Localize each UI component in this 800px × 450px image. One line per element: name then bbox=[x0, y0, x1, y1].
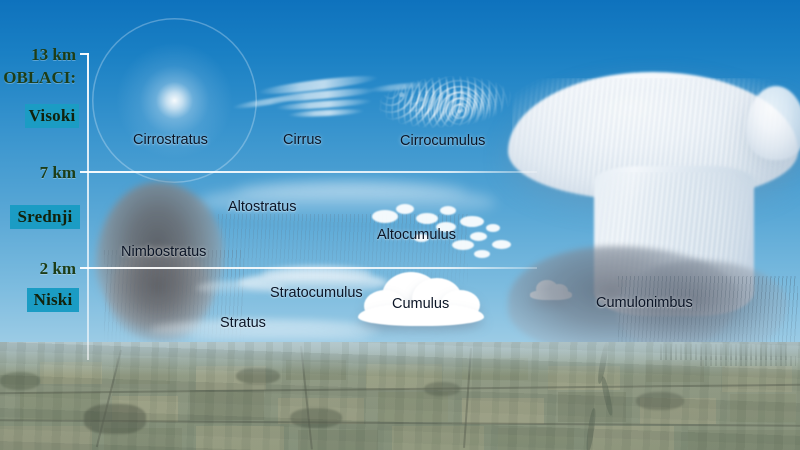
field-parcel bbox=[40, 362, 102, 384]
field-parcel bbox=[20, 392, 100, 420]
field-parcel bbox=[498, 428, 574, 450]
altitude-tick-7km bbox=[80, 171, 89, 173]
cloud-label-altostratus: Altostratus bbox=[228, 199, 297, 215]
ground-aerial-farmland bbox=[0, 342, 800, 450]
field-parcel bbox=[722, 366, 792, 392]
horizon-haze bbox=[0, 342, 800, 376]
cloud-label-cumulus: Cumulus bbox=[392, 296, 449, 312]
altitude-axis-line bbox=[87, 53, 89, 360]
altitude-label-2km: 2 km bbox=[0, 259, 76, 279]
cloud-label-cirrocumulus: Cirrocumulus bbox=[400, 133, 485, 149]
altocumulus-cloud bbox=[470, 232, 487, 241]
field-parcel bbox=[112, 396, 178, 422]
woodland-patch bbox=[0, 372, 40, 390]
cloud-label-cirrus: Cirrus bbox=[283, 132, 322, 148]
category-box-niski: Niski bbox=[27, 288, 79, 312]
field-parcel bbox=[392, 426, 484, 450]
cirrus-cloud bbox=[288, 108, 364, 118]
tree-line bbox=[660, 344, 790, 360]
cloud-label-stratocumulus: Stratocumulus bbox=[270, 285, 363, 301]
altocumulus-cloud bbox=[440, 206, 456, 215]
road-line bbox=[0, 384, 800, 394]
woodland-patch bbox=[290, 408, 342, 428]
field-parcel bbox=[366, 364, 442, 390]
diagram-title: OBLACI: bbox=[0, 68, 76, 88]
field-parcel bbox=[462, 358, 528, 380]
field-parcel bbox=[640, 398, 716, 424]
field-parcel bbox=[298, 430, 378, 450]
altitude-label-13km: 13 km bbox=[0, 45, 76, 65]
cloud-classification-diagram: 13 km 7 km 2 km OBLACI: Visoki Srednji N… bbox=[0, 0, 800, 450]
field-parcel bbox=[104, 428, 182, 450]
field-parcel bbox=[730, 394, 796, 422]
field-parcel bbox=[558, 392, 626, 422]
field-parcel bbox=[286, 360, 346, 380]
cloud-label-stratus: Stratus bbox=[220, 315, 266, 331]
cloud-label-cirrostratus: Cirrostratus bbox=[133, 132, 208, 148]
altocumulus-cloud bbox=[416, 213, 438, 224]
river bbox=[585, 408, 597, 450]
field-parcel bbox=[116, 358, 170, 384]
field-patchwork bbox=[0, 342, 800, 450]
woodland-patch bbox=[636, 392, 684, 410]
altocumulus-cloud bbox=[396, 204, 414, 214]
road-line bbox=[463, 348, 471, 448]
field-parcel bbox=[588, 426, 674, 450]
road-line bbox=[300, 346, 313, 450]
category-label-niski: Niski bbox=[34, 290, 73, 310]
tree-line bbox=[700, 356, 796, 366]
cloud-label-cumulonimbus: Cumulonimbus bbox=[596, 295, 693, 311]
woodland-patch bbox=[424, 382, 460, 396]
field-parcel bbox=[462, 398, 544, 424]
altitude-tick-13km bbox=[80, 53, 89, 55]
road-line bbox=[96, 350, 122, 448]
cloud-label-nimbostratus: Nimbostratus bbox=[121, 244, 206, 260]
altitude-tick-2km bbox=[80, 267, 89, 269]
altitude-level-line-7km bbox=[87, 171, 537, 173]
altocumulus-cloud bbox=[474, 250, 490, 258]
woodland-patch bbox=[84, 404, 146, 434]
river bbox=[596, 342, 609, 384]
category-label-visoki: Visoki bbox=[29, 106, 76, 126]
altitude-level-line-2km bbox=[87, 267, 537, 269]
cloud-label-altocumulus: Altocumulus bbox=[377, 227, 456, 243]
field-parcel bbox=[548, 366, 620, 390]
field-parcel bbox=[378, 392, 448, 422]
road-line bbox=[0, 419, 800, 426]
river bbox=[600, 376, 614, 416]
field-parcel bbox=[646, 360, 704, 382]
halo-ring-icon bbox=[92, 18, 257, 183]
altocumulus-cloud bbox=[372, 210, 398, 223]
altocumulus-cloud bbox=[460, 216, 484, 227]
woodland-patch bbox=[236, 368, 280, 384]
field-parcel bbox=[278, 398, 364, 424]
altitude-label-7km: 7 km bbox=[0, 163, 76, 183]
field-parcel bbox=[196, 426, 284, 450]
field-parcel bbox=[688, 430, 800, 450]
field-parcel bbox=[190, 390, 264, 420]
field-parcel bbox=[0, 426, 92, 450]
category-label-srednji: Srednji bbox=[18, 207, 73, 227]
category-box-srednji: Srednji bbox=[10, 205, 80, 229]
field-parcel bbox=[196, 366, 266, 390]
category-box-visoki: Visoki bbox=[25, 104, 79, 128]
cirrocumulus-cloud bbox=[403, 83, 501, 126]
